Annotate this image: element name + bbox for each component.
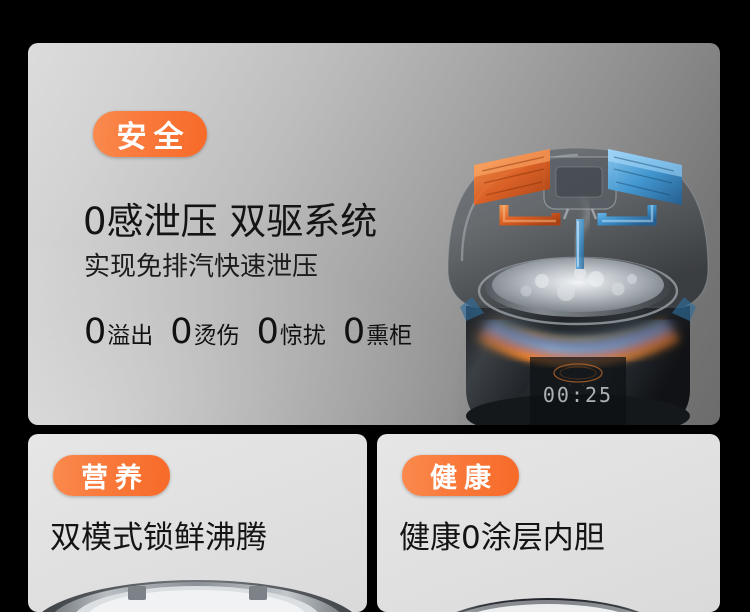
zero-label: 烫伤 <box>194 325 240 348</box>
health-feature-panel: 健康 健康0涂层内胆 <box>377 434 720 612</box>
zero-label: 惊扰 <box>280 325 326 348</box>
zero-feature-list: 0 溢出 0 烫伤 0 惊扰 0 熏柜 <box>84 315 412 350</box>
zero-feature-item: 0 惊扰 <box>257 315 326 350</box>
main-subheadline: 实现免排汽快速泄压 <box>84 246 318 283</box>
nutrition-headline: 双模式锁鲜沸腾 <box>50 512 267 557</box>
nutrition-feature-panel: 营养 双模式锁鲜沸腾 <box>28 434 367 612</box>
zero-number: 0 <box>170 315 192 350</box>
zero-feature-item: 0 熏柜 <box>343 315 412 350</box>
pressure-cooker-cutaway-image: 00:25 · · <box>426 121 720 425</box>
zero-number: 0 <box>343 315 365 350</box>
health-headline: 健康0涂层内胆 <box>399 512 605 557</box>
zero-number: 0 <box>257 315 279 350</box>
zero-feature-item: 0 烫伤 <box>170 315 239 350</box>
badge-health: 健康 <box>402 455 519 496</box>
zero-feature-item: 0 溢出 <box>84 315 153 350</box>
zero-number: 0 <box>84 315 106 350</box>
main-headline: 0感泄压 双驱系统 <box>83 191 377 245</box>
main-feature-panel: 00:25 · · 安全 0感泄压 双驱系统 实现免排汽快速泄压 0 溢出 0 … <box>28 43 720 425</box>
zero-label: 熏柜 <box>366 325 412 348</box>
badge-safety: 安全 <box>93 111 207 157</box>
zero-label: 溢出 <box>107 325 153 348</box>
badge-nutrition: 营养 <box>53 455 170 496</box>
svg-text:· ·: · · <box>568 382 588 389</box>
